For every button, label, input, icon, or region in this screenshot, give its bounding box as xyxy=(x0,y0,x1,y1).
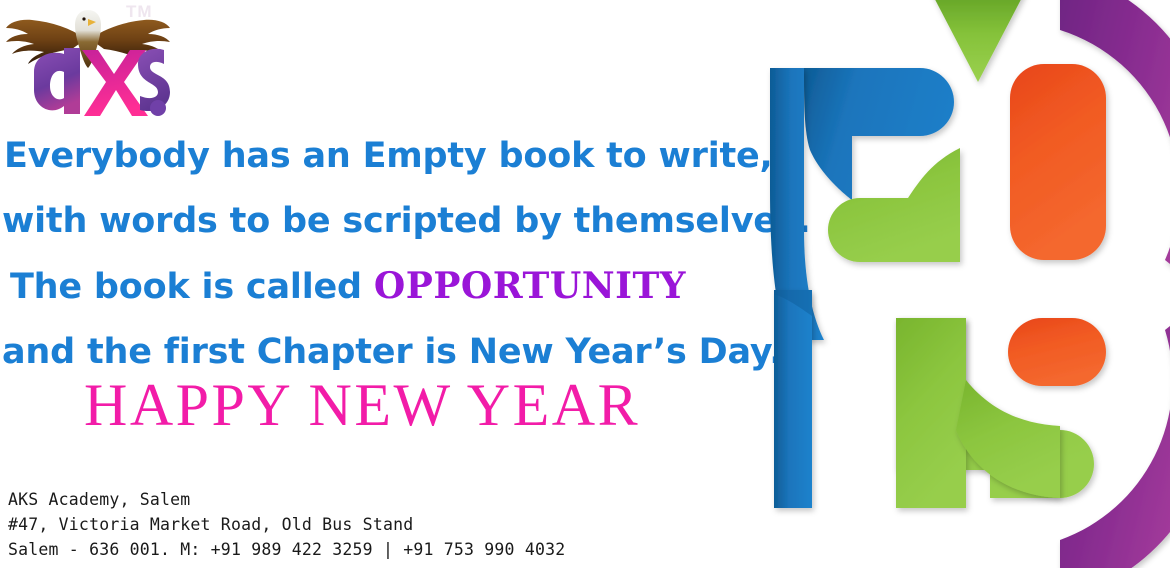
message-line-2: with words to be scripted by themselves. xyxy=(0,189,800,254)
blue-one xyxy=(774,290,812,508)
message-line-1: Everybody has an Empty book to write, xyxy=(0,124,800,189)
address-organization: AKS Academy, Salem xyxy=(8,487,565,512)
address-city-phone: Salem - 636 001. M: +91 989 422 3259 | +… xyxy=(8,537,565,562)
aks-brand-logo: TM xyxy=(4,2,194,120)
new-year-greeting-poster: TM Everybody has an Empty book to write,… xyxy=(0,0,1170,568)
address-street: #47, Victoria Market Road, Old Bus Stand xyxy=(8,512,565,537)
orange-nine-dot xyxy=(1008,318,1106,386)
happy-new-year-greeting: HAPPY NEW YEAR xyxy=(84,371,640,440)
trademark-mark: TM xyxy=(126,2,153,22)
green-nine-tail xyxy=(956,380,1060,498)
logo-wordmark-aks xyxy=(26,42,176,120)
address-block: AKS Academy, Salem #47, Victoria Market … xyxy=(8,487,565,562)
year-2019-graphic xyxy=(760,0,1170,568)
message-line-3: The book is called OPPORTUNITY xyxy=(0,254,800,320)
opportunity-highlight: OPPORTUNITY xyxy=(374,265,686,307)
green-nine-stem xyxy=(896,318,966,508)
orange-zero xyxy=(1010,64,1106,260)
message-line-3-prefix: The book is called xyxy=(10,267,362,307)
green-triangle-top xyxy=(928,0,1028,82)
message-block: Everybody has an Empty book to write, wi… xyxy=(0,124,800,385)
